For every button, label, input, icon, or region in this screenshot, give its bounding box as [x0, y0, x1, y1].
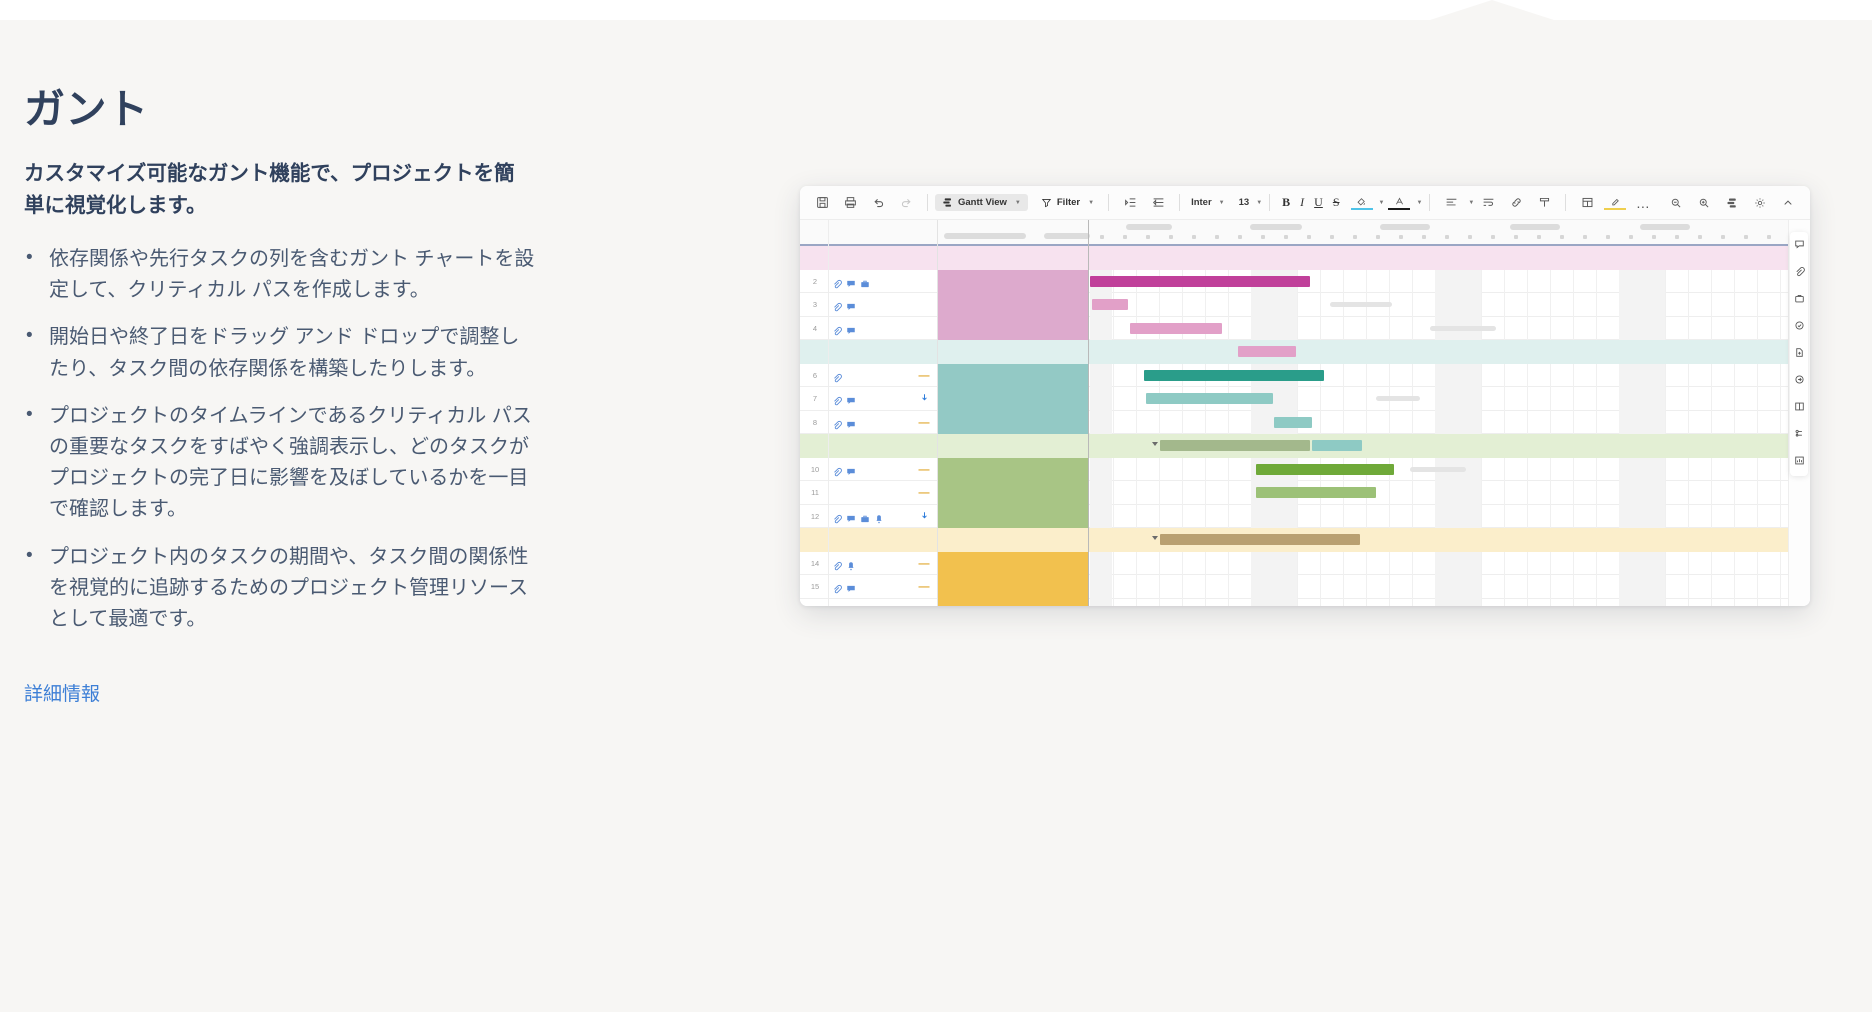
redo-icon[interactable] [895, 192, 917, 214]
split-view-icon[interactable] [1794, 399, 1805, 417]
top-notch-triangle [1430, 0, 1554, 20]
top-white-band [0, 0, 1872, 20]
alert-icon[interactable] [874, 511, 884, 521]
row-icons[interactable] [832, 511, 884, 521]
priority-indicator[interactable] [918, 605, 930, 607]
collapse-chevron-icon[interactable] [1777, 192, 1799, 214]
task-name-placeholder [940, 420, 1022, 425]
comment-icon[interactable] [1794, 237, 1805, 255]
comment-icon[interactable] [846, 323, 856, 333]
gantt-icon[interactable] [1721, 192, 1743, 214]
attachment-icon[interactable] [832, 417, 842, 427]
attachment-icon[interactable] [832, 252, 842, 262]
row-number: 10 [800, 458, 830, 482]
filter-button[interactable]: Filter ▼ [1034, 194, 1101, 211]
wrap-text-icon[interactable] [1477, 192, 1499, 214]
attachment-icon[interactable] [832, 534, 842, 544]
link-icon[interactable] [1505, 192, 1527, 214]
outdent-icon[interactable] [1147, 192, 1169, 214]
toolbar-right-group [1662, 192, 1802, 214]
attachment-icon[interactable] [832, 464, 842, 474]
table-row[interactable]: 1 [800, 246, 1788, 270]
timeline-divider [1088, 220, 1089, 606]
right-rail-icon-group [1790, 232, 1808, 476]
row-number: 7 [800, 387, 830, 411]
row-number: 6 [800, 364, 830, 388]
priority-indicator[interactable] [918, 511, 930, 523]
fill-color-icon[interactable] [1351, 195, 1373, 210]
toolbar-divider [1108, 194, 1109, 211]
indent-icon[interactable] [1119, 192, 1141, 214]
toolbar-divider [1269, 194, 1270, 211]
attachment-icon[interactable] [832, 558, 842, 568]
zoom-in-icon[interactable] [1693, 192, 1715, 214]
publish-icon[interactable] [1794, 372, 1805, 390]
row-number: 16 [800, 599, 830, 607]
task-name-placeholder [940, 584, 1012, 589]
chevron-down-icon: ▼ [1088, 200, 1094, 206]
attachment-icon[interactable] [832, 581, 842, 591]
comment-icon[interactable] [846, 252, 856, 262]
toolbar-divider [1565, 194, 1566, 211]
row-icons[interactable] [832, 393, 856, 403]
highlight-icon[interactable] [1604, 195, 1626, 210]
priority-indicator[interactable]: — [918, 581, 930, 593]
toolbar-divider [927, 194, 928, 211]
table-row[interactable]: 5 [800, 340, 1788, 364]
attachment-icon[interactable] [832, 276, 842, 286]
attachment-icon[interactable] [832, 323, 842, 333]
priority-indicator[interactable]: ! [918, 534, 930, 546]
table-row[interactable]: 2 [800, 270, 1788, 294]
task-name-placeholder [940, 279, 1010, 284]
row-icons[interactable] [832, 464, 856, 474]
table-row[interactable]: 9! [800, 434, 1788, 458]
file-icon[interactable] [1794, 345, 1805, 363]
proof-icon[interactable] [860, 252, 870, 262]
comment-icon[interactable] [846, 464, 856, 474]
comment-icon[interactable] [846, 440, 856, 450]
row-icons[interactable] [832, 605, 842, 607]
priority-indicator[interactable]: — [918, 464, 930, 476]
row-number: 13 [800, 528, 830, 552]
task-name-placeholder [940, 255, 1032, 260]
learn-more-link[interactable]: 詳細情報 [24, 679, 100, 706]
task-name-placeholder [940, 561, 1024, 566]
sheet-column-header [800, 220, 1788, 246]
chevron-down-icon[interactable]: ▼ [1468, 200, 1474, 206]
app-toolbar: Gantt View ▼ Filter ▼ Inter ▼ [800, 186, 1810, 220]
task-name-placeholder [940, 467, 1028, 472]
row-number: 1 [800, 246, 830, 270]
table-row[interactable]: 3 [800, 293, 1788, 317]
comment-icon[interactable] [846, 276, 856, 286]
row-icons[interactable] [832, 252, 870, 262]
list-item: 依存関係や先行タスクの列を含むガント チャートを設定して、クリティカル パスを作… [24, 244, 536, 306]
row-number: 5 [800, 340, 830, 364]
comment-icon[interactable] [846, 534, 856, 544]
underline-button[interactable]: U [1314, 195, 1323, 210]
priority-indicator[interactable]: ! [918, 440, 930, 452]
chevron-down-icon[interactable]: ▼ [1379, 200, 1385, 206]
strikethrough-button[interactable]: S [1333, 195, 1340, 210]
chevron-down-icon[interactable]: ▼ [1219, 200, 1225, 206]
font-size-select[interactable]: 13 [1235, 197, 1254, 208]
table-row[interactable]: 6— [800, 364, 1788, 388]
attachment-icon[interactable] [832, 511, 842, 521]
save-icon[interactable] [811, 192, 833, 214]
row-icons[interactable] [832, 534, 870, 544]
table-row[interactable]: 10— [800, 458, 1788, 482]
priority-indicator[interactable]: — [918, 558, 930, 570]
view-selector-label: Gantt View [958, 197, 1007, 208]
proof-icon[interactable] [860, 534, 870, 544]
attachment-icon[interactable] [832, 605, 842, 607]
task-name-placeholder [940, 302, 1026, 307]
page-title: ガント [24, 86, 634, 133]
attachment-icon[interactable] [1794, 264, 1805, 282]
update-request-icon[interactable] [1794, 318, 1805, 336]
column-divider [937, 220, 938, 606]
task-name-placeholder [940, 490, 1002, 495]
comment-icon[interactable] [846, 393, 856, 403]
chevron-down-icon: ▼ [1015, 200, 1021, 206]
list-item: プロジェクトのタイムラインであるクリティカル パスの重要なタスクをすばやく強調表… [24, 401, 536, 526]
view-selector-button[interactable]: Gantt View ▼ [935, 194, 1028, 211]
rownum-divider [828, 220, 829, 606]
proof-icon[interactable] [860, 346, 870, 356]
comment-icon[interactable] [846, 581, 856, 591]
zoom-out-icon[interactable] [1665, 192, 1687, 214]
settings-gear-icon[interactable] [1749, 192, 1771, 214]
column-header-placeholder [1044, 233, 1090, 239]
toolbar-divider [1429, 194, 1430, 211]
task-name-placeholder [940, 396, 1014, 401]
row-icons[interactable] [832, 276, 870, 286]
table-row[interactable]: 8— [800, 411, 1788, 435]
attachment-icon[interactable] [832, 440, 842, 450]
attachment-icon[interactable] [832, 370, 842, 380]
proof-icon[interactable] [860, 511, 870, 521]
gantt-detail-panel: Mar 28 Apr 4 Apr 11 TWTFSSMTWTFSSMTWT 90… [1398, 528, 1872, 648]
date-group-label [1126, 224, 1172, 230]
row-icons[interactable] [832, 370, 842, 380]
text-color-icon[interactable] [1388, 195, 1410, 210]
priority-indicator[interactable]: — [918, 370, 930, 382]
priority-indicator[interactable]: — [918, 487, 930, 499]
table-row[interactable]: 11— [800, 481, 1788, 505]
priority-indicator[interactable] [918, 393, 930, 405]
row-number: 4 [800, 317, 830, 341]
comment-icon[interactable] [846, 511, 856, 521]
row-icons[interactable] [832, 346, 870, 356]
row-icons[interactable] [832, 581, 856, 591]
proof-icon[interactable] [1794, 291, 1805, 309]
list-item: 開始日や終了日をドラッグ アンド ドロップで調整したり、タスク間の依存関係を構築… [24, 322, 536, 384]
priority-indicator[interactable]: — [918, 417, 930, 429]
row-icons[interactable] [832, 558, 856, 568]
chevron-down-icon[interactable]: ▼ [1416, 200, 1422, 206]
page-subhead: カスタマイズ可能なガント機能で、プロジェクトを簡単に視覚化します。 [24, 158, 532, 222]
format-painter-icon[interactable] [1533, 192, 1555, 214]
column-header-placeholder [944, 233, 1026, 239]
row-number: 11 [800, 481, 830, 505]
date-group-label [1250, 224, 1302, 230]
row-number: 8 [800, 411, 830, 435]
date-group-label [1640, 224, 1690, 230]
table-row[interactable]: 4 [800, 317, 1788, 341]
comment-icon[interactable] [846, 346, 856, 356]
feature-text-column: ガント カスタマイズ可能なガント機能で、プロジェクトを簡単に視覚化します。 依存… [24, 86, 634, 706]
task-name-placeholder [940, 514, 1020, 519]
table-row[interactable]: 12 [800, 505, 1788, 529]
attachment-icon[interactable] [832, 393, 842, 403]
bold-button[interactable]: B [1282, 195, 1290, 210]
filter-label: Filter [1057, 197, 1080, 208]
row-number: 15 [800, 575, 830, 599]
card-layout-icon[interactable] [1576, 192, 1598, 214]
page-root: ガント カスタマイズ可能なガント機能で、プロジェクトを簡単に視覚化します。 依存… [0, 0, 1872, 1012]
list-item: プロジェクト内のタスクの期間や、タスク間の関係性を視覚的に追跡するためのプロジェ… [24, 542, 536, 636]
proof-icon[interactable] [860, 440, 870, 450]
row-icons[interactable] [832, 440, 870, 450]
report-icon[interactable] [1794, 453, 1805, 471]
row-number: 2 [800, 270, 830, 294]
attachment-icon[interactable] [832, 299, 842, 309]
row-icons[interactable] [832, 299, 856, 309]
row-number: 14 [800, 552, 830, 576]
date-group-label [1380, 224, 1430, 230]
row-icons[interactable] [832, 323, 856, 333]
row-number: 12 [800, 505, 830, 529]
task-name-placeholder [940, 326, 1018, 331]
comment-icon[interactable] [846, 299, 856, 309]
font-family-select[interactable]: Inter [1187, 197, 1216, 208]
table-row[interactable]: 7 [800, 387, 1788, 411]
task-name-placeholder [940, 349, 1030, 354]
row-icons[interactable] [832, 417, 856, 427]
hierarchy-icon[interactable] [1794, 426, 1805, 444]
undo-icon[interactable] [867, 192, 889, 214]
date-group-label [1510, 224, 1560, 230]
feature-bullet-list: 依存関係や先行タスクの列を含むガント チャートを設定して、クリティカル パスを作… [24, 244, 536, 635]
toolbar-divider [1179, 194, 1180, 211]
attachment-icon[interactable] [832, 346, 842, 356]
print-icon[interactable] [839, 192, 861, 214]
align-left-icon[interactable] [1440, 192, 1462, 214]
comment-icon[interactable] [846, 417, 856, 427]
chevron-down-icon[interactable]: ▼ [1256, 200, 1262, 206]
proof-icon[interactable] [860, 276, 870, 286]
alert-icon[interactable] [846, 558, 856, 568]
italic-button[interactable]: I [1300, 195, 1304, 210]
row-number: 3 [800, 293, 830, 317]
more-options-icon[interactable]: … [1632, 192, 1654, 214]
row-number: 9 [800, 434, 830, 458]
